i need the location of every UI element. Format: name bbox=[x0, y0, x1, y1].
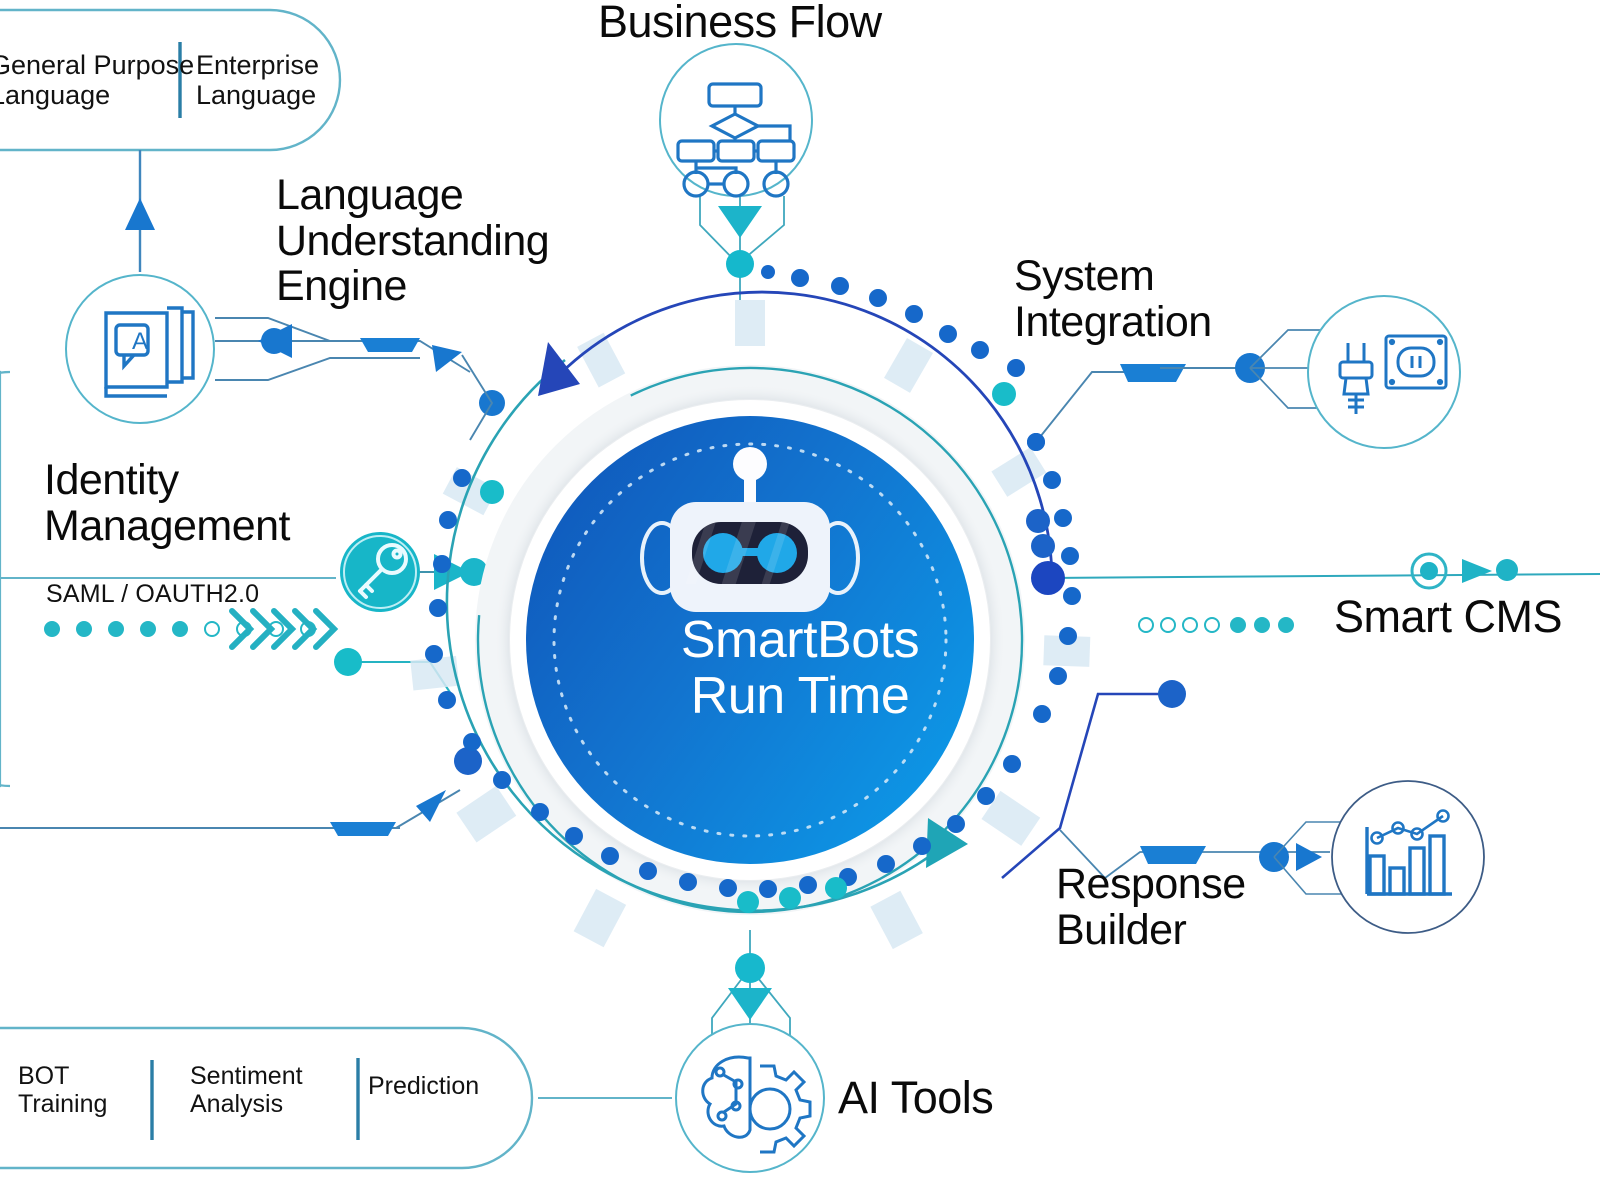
pill-item-general-purpose-language: General Purpose Language bbox=[0, 50, 194, 110]
pill-item-enterprise-language: Enterprise Language bbox=[196, 50, 319, 110]
hub-title-line1: SmartBots bbox=[0, 612, 1600, 668]
label-business-flow: Business Flow bbox=[598, 0, 882, 46]
pill-item-bot-training: BOT Training bbox=[18, 1062, 107, 1118]
label-identity-protocols: SAML / OAUTH2.0 bbox=[46, 580, 259, 609]
pill-item-sentiment-analysis: Sentiment Analysis bbox=[190, 1062, 303, 1118]
label-ai-tools: AI Tools bbox=[838, 1074, 993, 1122]
label-identity-management: Identity Management bbox=[44, 458, 290, 549]
label-system-integration: System Integration bbox=[1014, 254, 1212, 345]
architecture-diagram: A bbox=[0, 0, 1600, 1200]
pill-item-prediction: Prediction bbox=[368, 1072, 479, 1100]
hub-title-line2: Run Time bbox=[0, 668, 1600, 724]
label-language-understanding-engine: Language Understanding Engine bbox=[276, 173, 549, 310]
label-response-builder: Response Builder bbox=[1056, 862, 1246, 953]
